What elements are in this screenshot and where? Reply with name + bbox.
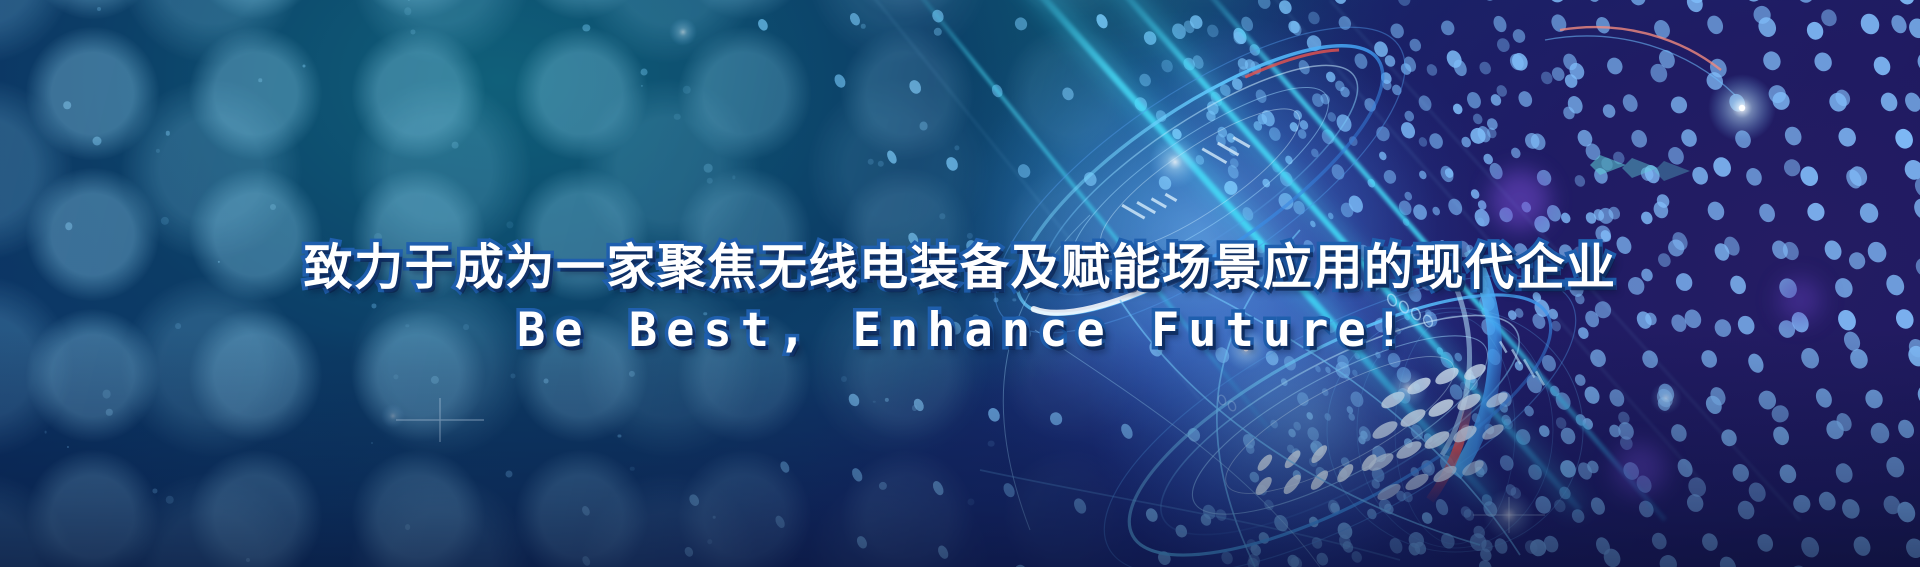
page-subtitle: Be Best, Enhance Future! — [0, 300, 1920, 362]
hero-banner: 致力于成为一家聚焦无线电装备及赋能场景应用的现代企业 Be Best, Enha… — [0, 0, 1920, 567]
chevron-detail — [1590, 155, 1690, 181]
page-title: 致力于成为一家聚焦无线电装备及赋能场景应用的现代企业 — [0, 236, 1920, 298]
headline-block: 致力于成为一家聚焦无线电装备及赋能场景应用的现代企业 Be Best, Enha… — [0, 236, 1920, 362]
